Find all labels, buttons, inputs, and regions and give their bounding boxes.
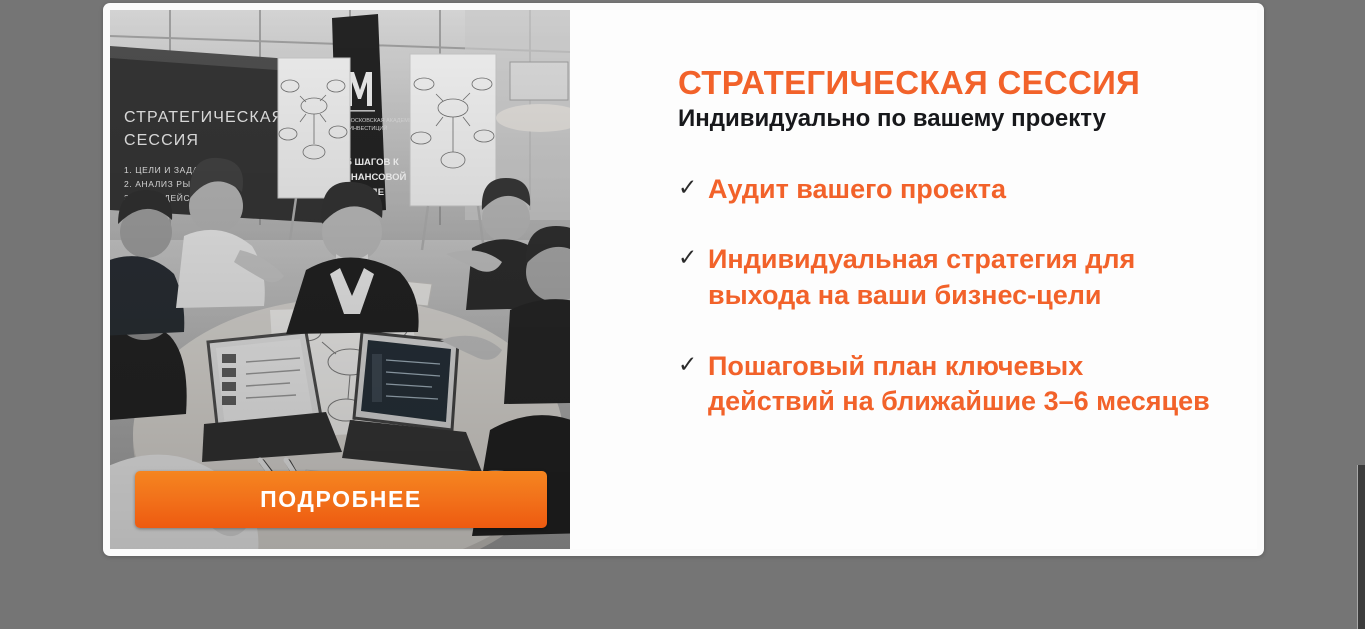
card-media: СТРАТЕГИЧЕСКАЯ СЕССИЯ 1. ЦЕЛИ И ЗАДАЧИ 2…	[110, 10, 570, 549]
list-item-label: Аудит вашего проекта	[708, 172, 1006, 208]
learn-more-button[interactable]: ПОДРОБНЕЕ	[135, 471, 547, 528]
list-item-label: Индивидуальная стратегия для выхода на в…	[708, 242, 1211, 313]
list-item: ✓ Индивидуальная стратегия для выхода на…	[678, 242, 1211, 313]
page-scrollbar-track[interactable]	[1356, 0, 1365, 629]
strategy-session-photo: СТРАТЕГИЧЕСКАЯ СЕССИЯ 1. ЦЕЛИ И ЗАДАЧИ 2…	[110, 10, 570, 549]
checkmark-icon: ✓	[678, 349, 708, 380]
list-item-label: Пошаговый план ключевых действий на ближ…	[708, 349, 1211, 420]
checkmark-icon: ✓	[678, 172, 708, 203]
list-item: ✓ Аудит вашего проекта	[678, 172, 1211, 208]
card-content: СТРАТЕГИЧЕСКАЯ СЕССИЯ Индивидуально по в…	[570, 10, 1257, 549]
page-title: СТРАТЕГИЧЕСКАЯ СЕССИЯ	[678, 65, 1211, 102]
page-scrollbar-thumb[interactable]	[1357, 465, 1365, 629]
list-item: ✓ Пошаговый план ключевых действий на бл…	[678, 349, 1211, 420]
page-viewport: СТРАТЕГИЧЕСКАЯ СЕССИЯ 1. ЦЕЛИ И ЗАДАЧИ 2…	[0, 0, 1365, 629]
offer-card: СТРАТЕГИЧЕСКАЯ СЕССИЯ 1. ЦЕЛИ И ЗАДАЧИ 2…	[103, 3, 1264, 556]
benefits-list: ✓ Аудит вашего проекта ✓ Индивидуальная …	[678, 172, 1211, 420]
checkmark-icon: ✓	[678, 242, 708, 273]
page-subtitle: Индивидуально по вашему проекту	[678, 105, 1211, 134]
